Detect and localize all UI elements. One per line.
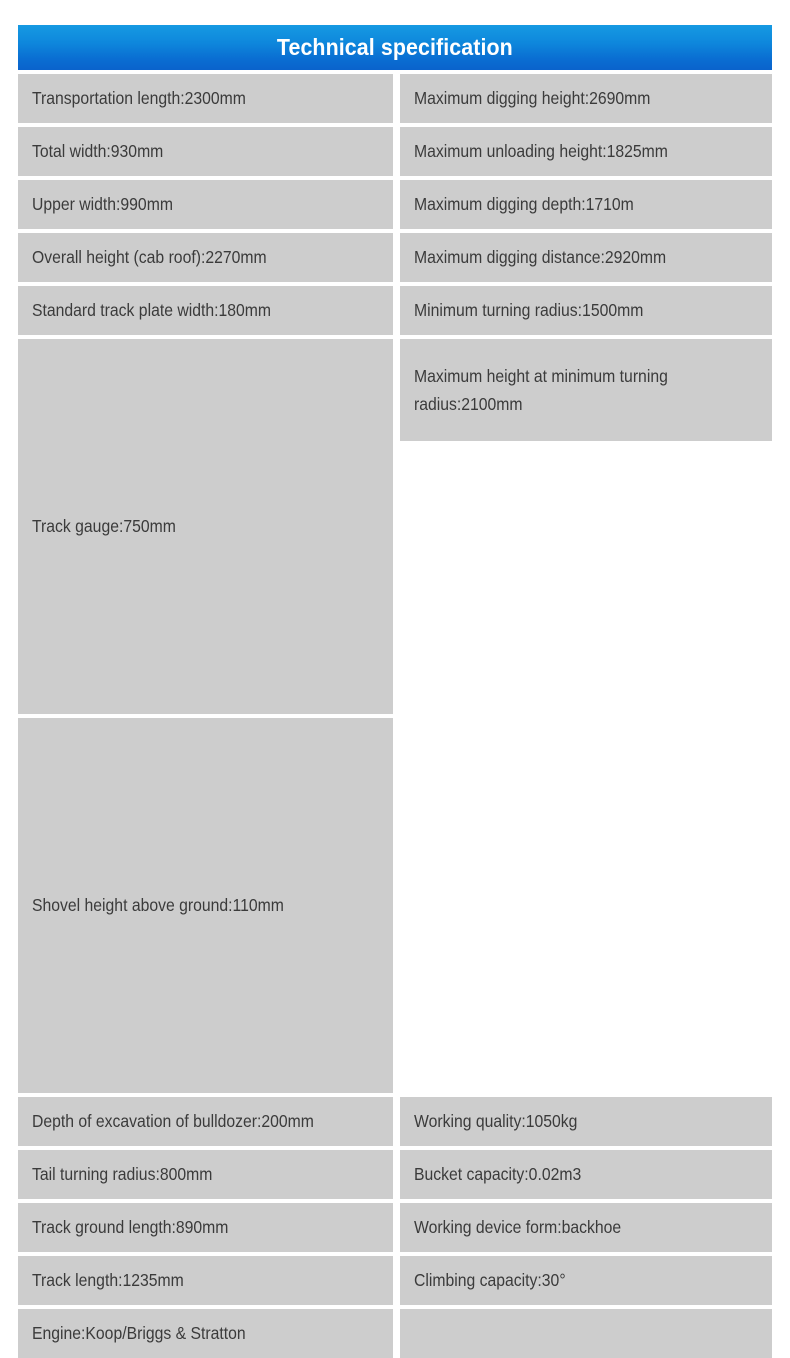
table-row: Standard track plate width:180mm Minimum… [18, 286, 772, 335]
table-row-merged: Track gauge:750mm Shovel height above gr… [18, 339, 772, 1093]
spec-cell-text: Maximum digging height:2690mm [414, 85, 650, 112]
spec-cell-text: Maximum digging depth:1710m [414, 191, 634, 218]
spec-cell-text: Maximum height at minimum turning radius… [414, 362, 736, 419]
spec-cell-right: Minimum turning radius:1500mm [400, 286, 772, 335]
spec-cell-right: Working quality:1050kg [400, 1097, 772, 1146]
spec-cell-left-stack: Track gauge:750mm Shovel height above gr… [18, 339, 393, 1093]
spec-cell-text: Working device form:backhoe [414, 1214, 621, 1241]
spec-cell-text: Depth of excavation of bulldozer:200mm [32, 1108, 314, 1135]
spec-cell-text: Engine:Koop/Briggs & Stratton [32, 1320, 246, 1347]
table-row: Track length:1235mm Climbing capacity:30… [18, 1256, 772, 1305]
spec-cell-text: Transportation length:2300mm [32, 85, 246, 112]
spec-cell-right: Maximum digging height:2690mm [400, 74, 772, 123]
spec-cell-text: Minimum turning radius:1500mm [414, 297, 643, 324]
spec-cell-text: Climbing capacity:30° [414, 1267, 566, 1294]
spec-cell-text: Track gauge:750mm [32, 513, 176, 540]
spec-cell-left: Track ground length:890mm [18, 1203, 393, 1252]
spec-cell-text: Overall height (cab roof):2270mm [32, 244, 267, 271]
spec-cell-text: Maximum unloading height:1825mm [414, 138, 668, 165]
spec-cell-left: Track gauge:750mm [18, 339, 393, 714]
spec-cell-left: Standard track plate width:180mm [18, 286, 393, 335]
spec-header-bar: Technical specification [18, 25, 772, 70]
spec-cell-left: Overall height (cab roof):2270mm [18, 233, 393, 282]
spec-cell-text: Track ground length:890mm [32, 1214, 228, 1241]
spec-cell-right: Maximum unloading height:1825mm [400, 127, 772, 176]
spec-cell-left: Transportation length:2300mm [18, 74, 393, 123]
spec-table: Transportation length:2300mm Maximum dig… [18, 74, 772, 1358]
table-row: Track ground length:890mm Working device… [18, 1203, 772, 1252]
table-row: Transportation length:2300mm Maximum dig… [18, 74, 772, 123]
table-row: Overall height (cab roof):2270mm Maximum… [18, 233, 772, 282]
spec-cell-right: Maximum digging depth:1710m [400, 180, 772, 229]
spec-cell-text: Standard track plate width:180mm [32, 297, 271, 324]
spec-cell-left: Tail turning radius:800mm [18, 1150, 393, 1199]
table-row: Total width:930mm Maximum unloading heig… [18, 127, 772, 176]
spec-cell-left: Shovel height above ground:110mm [18, 718, 393, 1093]
spec-cell-left: Track length:1235mm [18, 1256, 393, 1305]
technical-specification-sheet: Technical specification Transportation l… [0, 0, 790, 742]
table-row: Tail turning radius:800mm Bucket capacit… [18, 1150, 772, 1199]
spec-cell-text: Working quality:1050kg [414, 1108, 577, 1135]
spec-cell-text: Shovel height above ground:110mm [32, 892, 284, 919]
table-row: Engine:Koop/Briggs & Stratton [18, 1309, 772, 1358]
spec-cell-text: Upper width:990mm [32, 191, 173, 218]
spec-cell-text: Total width:930mm [32, 138, 163, 165]
spec-cell-right-merged: Maximum height at minimum turning radius… [400, 339, 772, 441]
spec-cell-right: Maximum digging distance:2920mm [400, 233, 772, 282]
spec-cell-left: Engine:Koop/Briggs & Stratton [18, 1309, 393, 1358]
spec-cell-right: Bucket capacity:0.02m3 [400, 1150, 772, 1199]
spec-cell-text: Tail turning radius:800mm [32, 1161, 212, 1188]
spec-cell-text: Maximum digging distance:2920mm [414, 244, 666, 271]
table-row: Upper width:990mm Maximum digging depth:… [18, 180, 772, 229]
spec-cell-left: Depth of excavation of bulldozer:200mm [18, 1097, 393, 1146]
spec-cell-left: Total width:930mm [18, 127, 393, 176]
spec-cell-right-empty [400, 1309, 772, 1358]
spec-cell-left: Upper width:990mm [18, 180, 393, 229]
page-title: Technical specification [277, 34, 513, 61]
spec-cell-text: Track length:1235mm [32, 1267, 184, 1294]
table-row: Depth of excavation of bulldozer:200mm W… [18, 1097, 772, 1146]
spec-cell-right: Climbing capacity:30° [400, 1256, 772, 1305]
spec-cell-right: Working device form:backhoe [400, 1203, 772, 1252]
spec-cell-text: Bucket capacity:0.02m3 [414, 1161, 581, 1188]
